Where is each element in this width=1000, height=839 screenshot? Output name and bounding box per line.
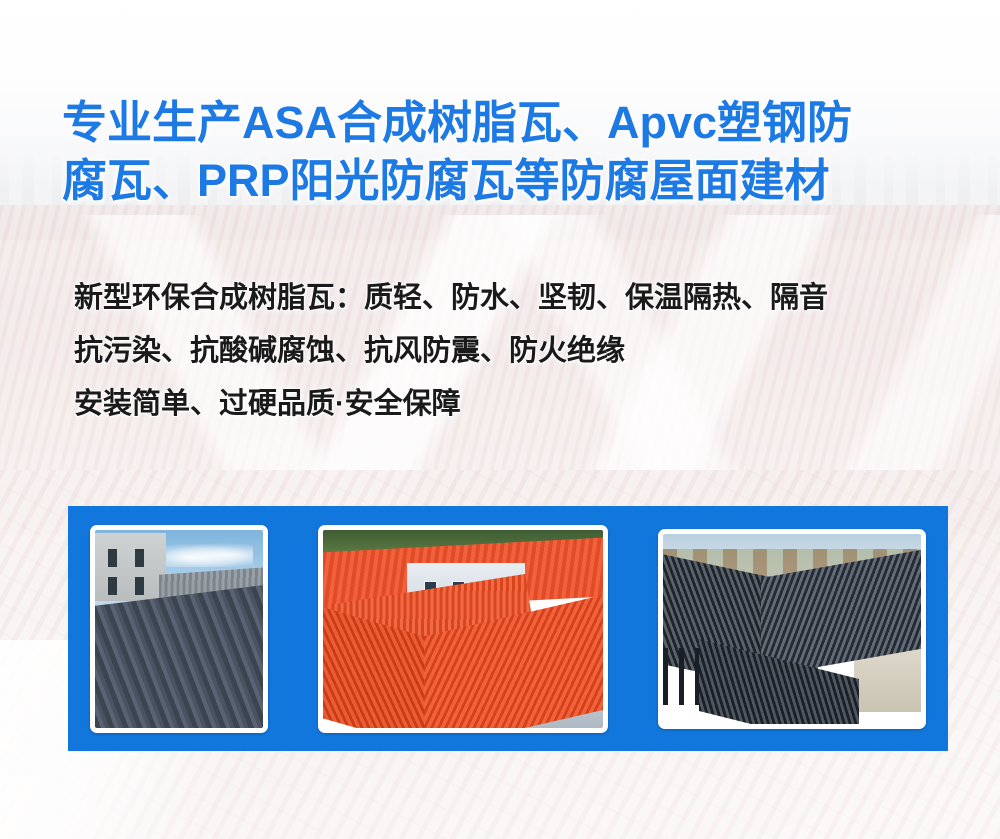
product-promo-banner: 专业生产ASA合成树脂瓦、Apvc塑钢防 腐瓦、PRP阳光防腐瓦等防腐屋面建材 … bbox=[0, 0, 1000, 839]
photo-image-2 bbox=[323, 530, 603, 728]
subtitle-line-1: 新型环保合成树脂瓦：质轻、防水、坚韧、保温隔热、隔音 bbox=[74, 272, 954, 325]
product-photo-gallery bbox=[68, 506, 948, 751]
photo1-grey-tile-roof bbox=[95, 583, 263, 728]
gallery-photo-dark-grey-resin-tile-roof[interactable] bbox=[658, 529, 926, 729]
banner-headline: 专业生产ASA合成树脂瓦、Apvc塑钢防 腐瓦、PRP阳光防腐瓦等防腐屋面建材 bbox=[62, 94, 952, 210]
photo1-concrete-building bbox=[95, 533, 166, 600]
photo1-window bbox=[135, 577, 144, 595]
subtitle-line-3: 安装简单、过硬品质·安全保障 bbox=[74, 378, 954, 431]
photo1-window bbox=[108, 549, 117, 567]
gallery-photo-red-resin-tile-roof[interactable] bbox=[318, 525, 608, 733]
banner-content: 专业生产ASA合成树脂瓦、Apvc塑钢防 腐瓦、PRP阳光防腐瓦等防腐屋面建材 … bbox=[0, 0, 1000, 839]
photo-image-3 bbox=[663, 534, 921, 724]
photo1-window bbox=[135, 549, 144, 567]
photo-image-1 bbox=[95, 530, 263, 728]
banner-subtitle-block: 新型环保合成树脂瓦：质轻、防水、坚韧、保温隔热、隔音 抗污染、抗酸碱腐蚀、抗风防… bbox=[74, 272, 954, 431]
subtitle-line-2: 抗污染、抗酸碱腐蚀、抗风防震、防火绝缘 bbox=[74, 325, 954, 378]
photo1-window bbox=[108, 577, 117, 595]
gallery-photo-grey-resin-tile-roof[interactable] bbox=[90, 525, 268, 733]
photo1-clouds bbox=[166, 543, 253, 567]
